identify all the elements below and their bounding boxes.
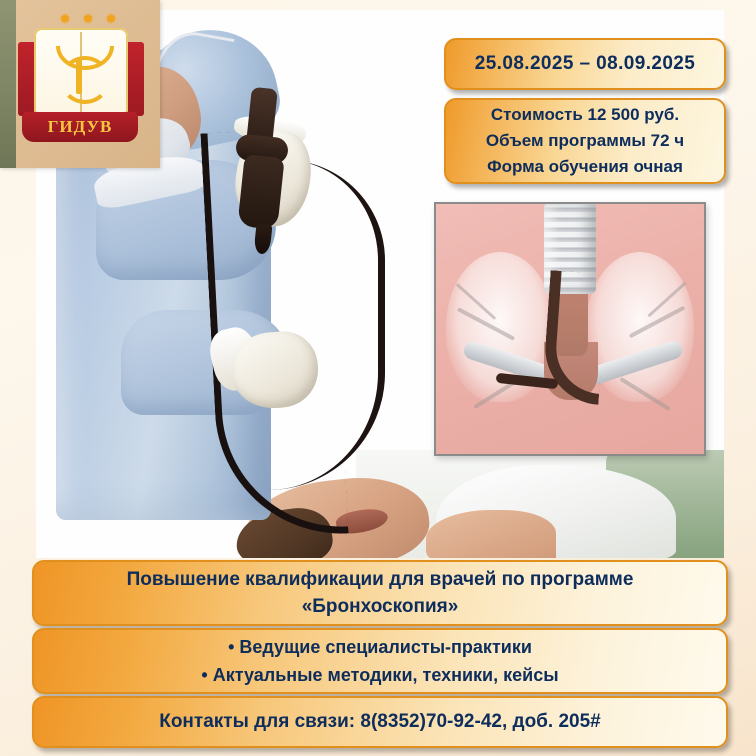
bowl-of-hygieia-icon [50,42,112,100]
course-format-text: Форма обучения очная [487,154,683,180]
star-icon: ✹ [58,13,72,27]
bronchoscopy-illustration-inset [434,202,706,456]
course-highlights-banner: • Ведущие специалисты-практики • Актуаль… [32,628,728,694]
course-title-line2: «Бронхоскопия» [302,593,459,620]
course-hours-text: Объем программы 72 ч [486,128,684,154]
logo-name-text: ГИДУВ [48,117,113,137]
contacts-text[interactable]: Контакты для связи: 8(8352)70-92-42, доб… [159,711,601,733]
contacts-banner[interactable]: Контакты для связи: 8(8352)70-92-42, доб… [32,696,728,748]
course-info-badge: Стоимость 12 500 руб. Объем программы 72… [444,98,726,184]
snake-coil [60,56,110,104]
highlight-bullet-2: • Актуальные методики, техники, кейсы [201,661,558,689]
course-title-line1: Повышение квалификации для врачей по про… [127,566,634,593]
open-book-icon [16,26,146,126]
course-price-text: Стоимость 12 500 руб. [491,102,679,128]
highlight-bullet-1: • Ведущие специалисты-практики [228,633,532,661]
course-title-banner: Повышение квалификации для врачей по про… [32,560,728,626]
course-dates-badge: 25.08.2025 – 08.09.2025 [444,38,726,90]
logo-panel-edge [0,0,16,168]
institution-logo-panel: ✹ ✹ ✹ ГИДУВ [0,0,160,168]
patient-shoulder [426,510,556,558]
logo-name-banner: ГИДУВ [22,112,138,142]
course-dates-text: 25.08.2025 – 08.09.2025 [475,53,696,75]
star-icon: ✹ [104,13,118,27]
poster-root: ✹ ✹ ✹ ГИДУВ 25.08.2025 – 08.09.2025 Стои… [0,0,756,756]
bronchoscope-handle [237,154,284,230]
star-icon: ✹ [81,13,95,27]
